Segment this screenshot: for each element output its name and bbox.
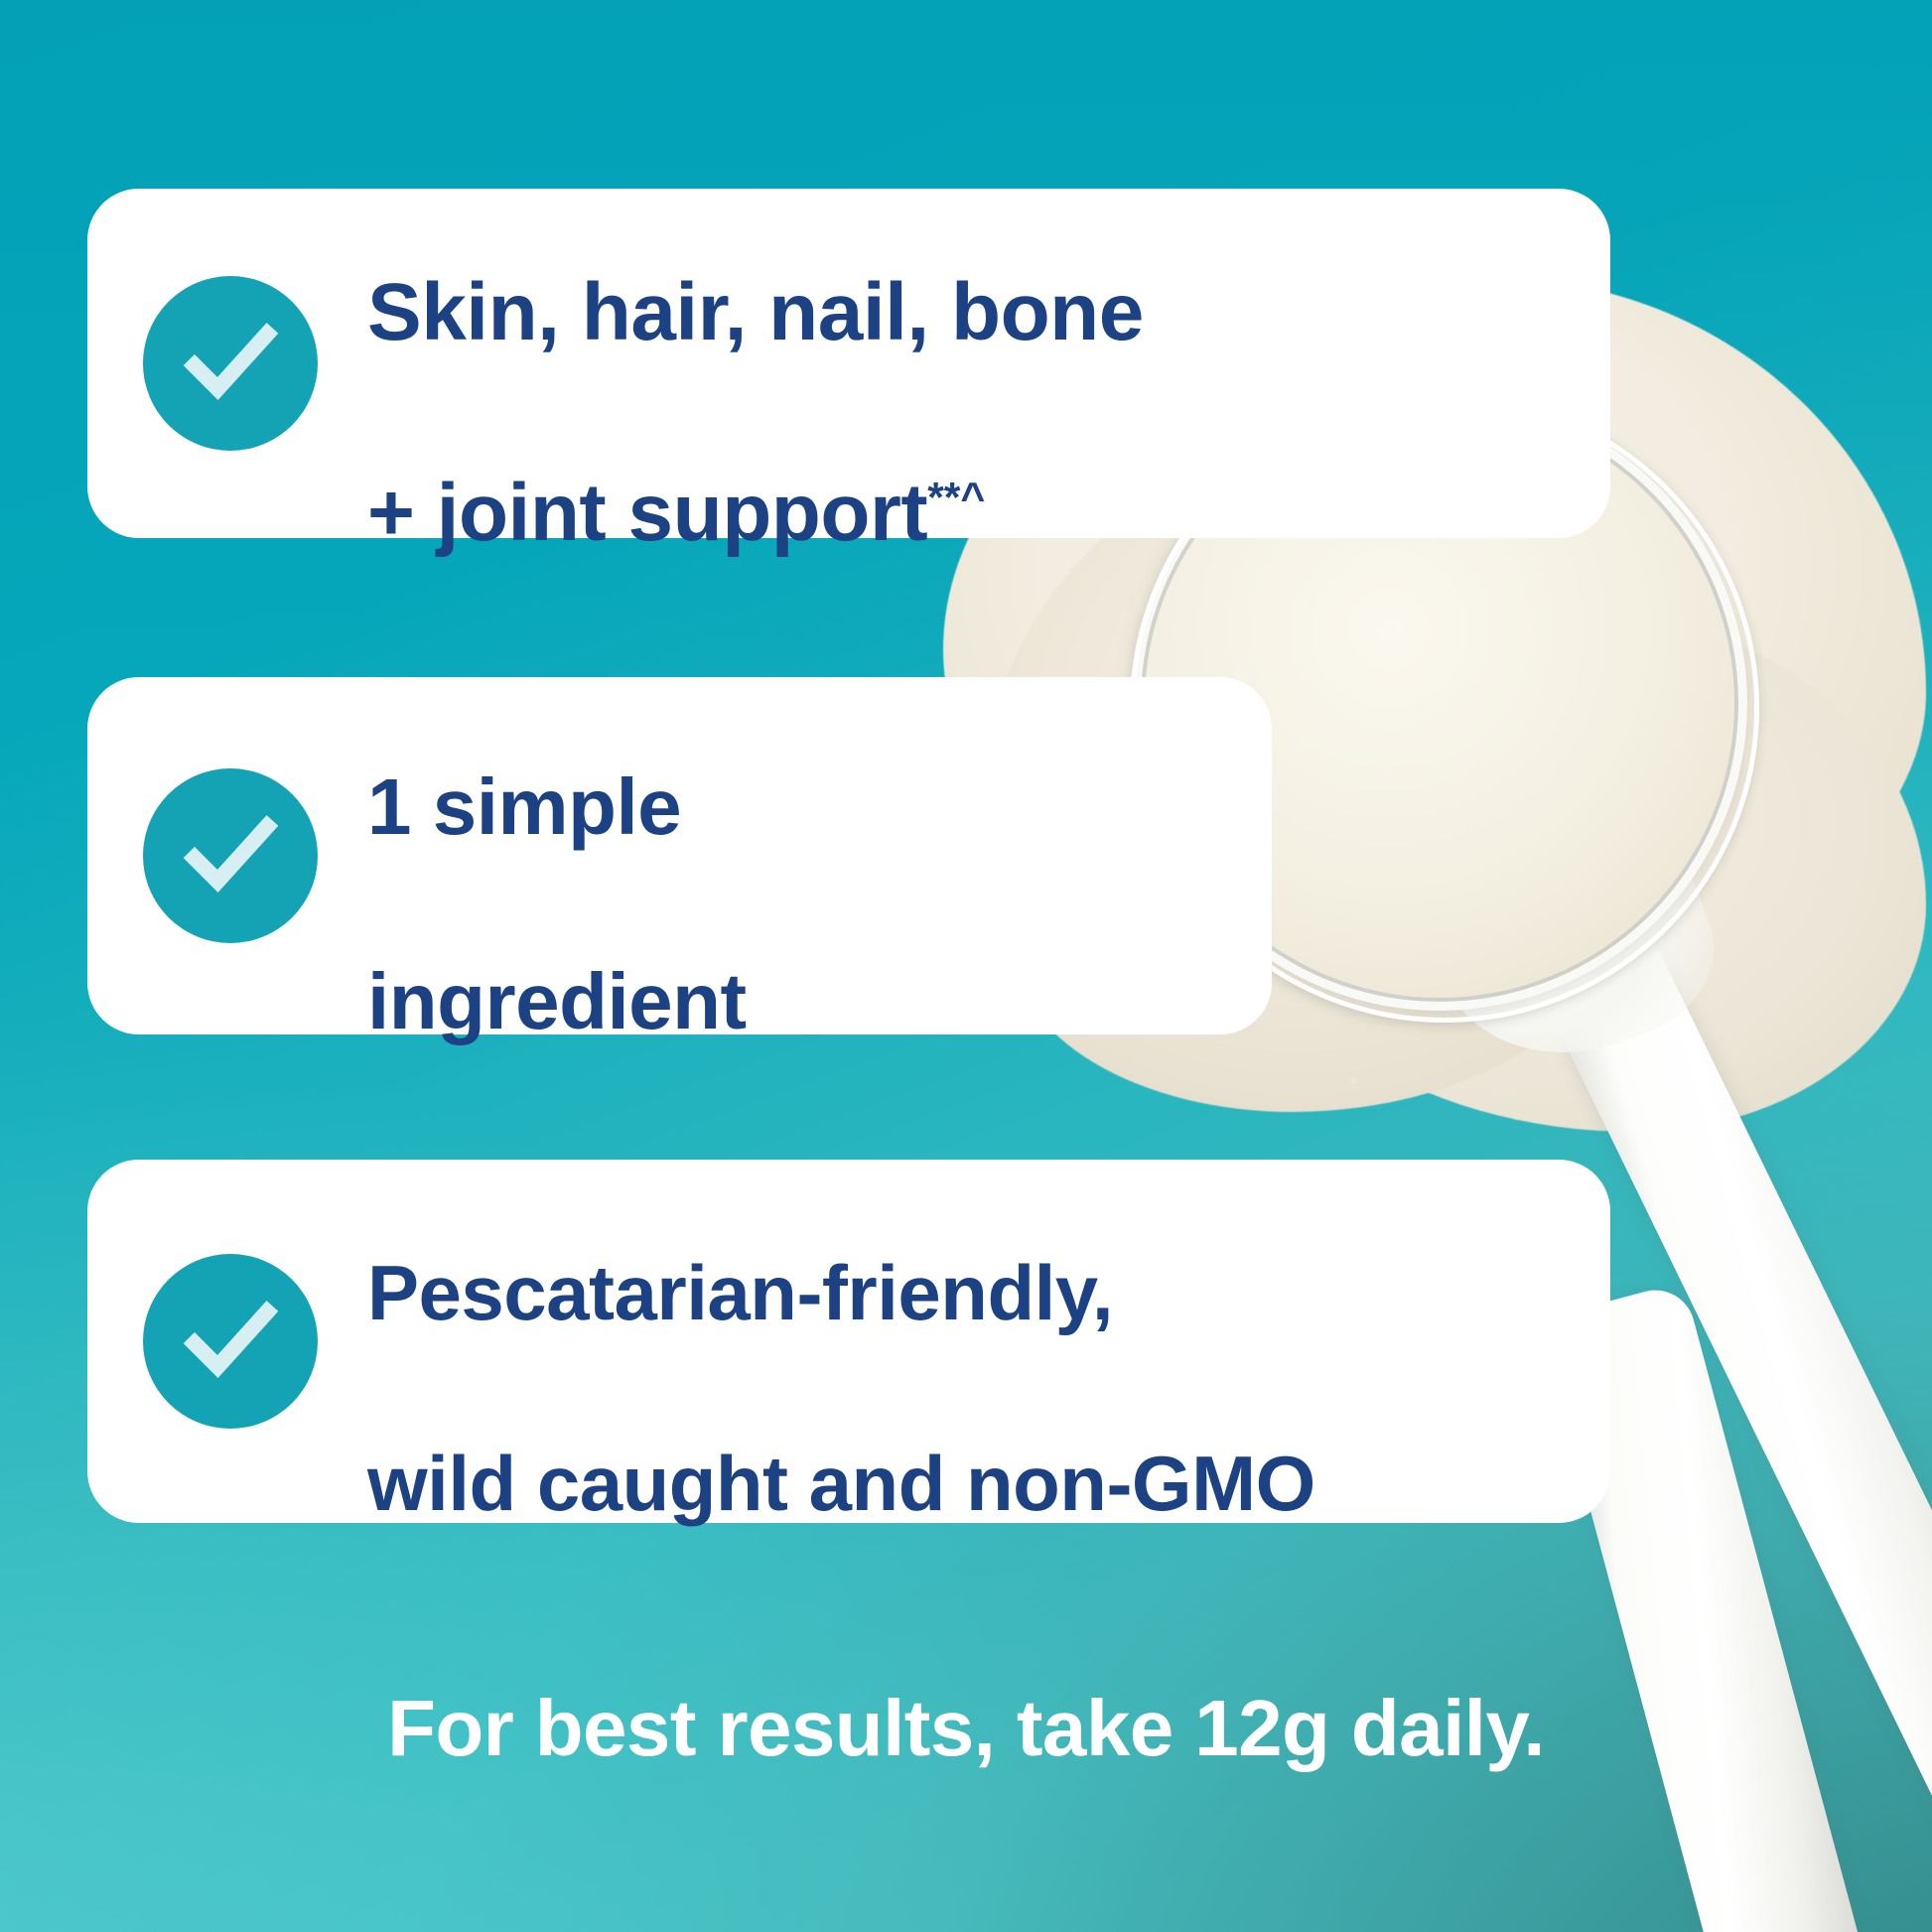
benefit-card-text: Pescatarian-friendly, wild caught and no… (367, 1151, 1315, 1532)
check-icon (143, 1254, 318, 1429)
benefit-line-1: 1 simple (367, 762, 681, 851)
benefit-card-text: 1 simple ingredient (367, 660, 747, 1051)
benefit-line-2: ingredient (367, 957, 747, 1045)
benefit-card-pescatarian-friendly: Pescatarian-friendly, wild caught and no… (87, 1160, 1610, 1523)
benefit-line-2: + joint support (367, 468, 927, 558)
benefit-line-2: wild caught and non-GMO (367, 1440, 1315, 1527)
check-icon (143, 768, 318, 943)
benefit-superscript: **^ (927, 475, 985, 522)
check-icon (143, 276, 318, 451)
benefit-card-text: Skin, hair, nail, bone + joint support**… (367, 163, 1144, 563)
benefit-line-1: Pescatarian-friendly, (367, 1249, 1113, 1336)
benefit-card-skin-hair-nail-bone: Skin, hair, nail, bone + joint support**… (87, 189, 1610, 538)
benefit-line-1: Skin, hair, nail, bone (367, 267, 1144, 357)
dosage-note: For best results, take 12g daily. (0, 1683, 1932, 1774)
benefit-card-one-simple-ingredient: 1 simple ingredient (87, 677, 1272, 1035)
promo-image-canvas: Skin, hair, nail, bone + joint support**… (0, 0, 1932, 1932)
